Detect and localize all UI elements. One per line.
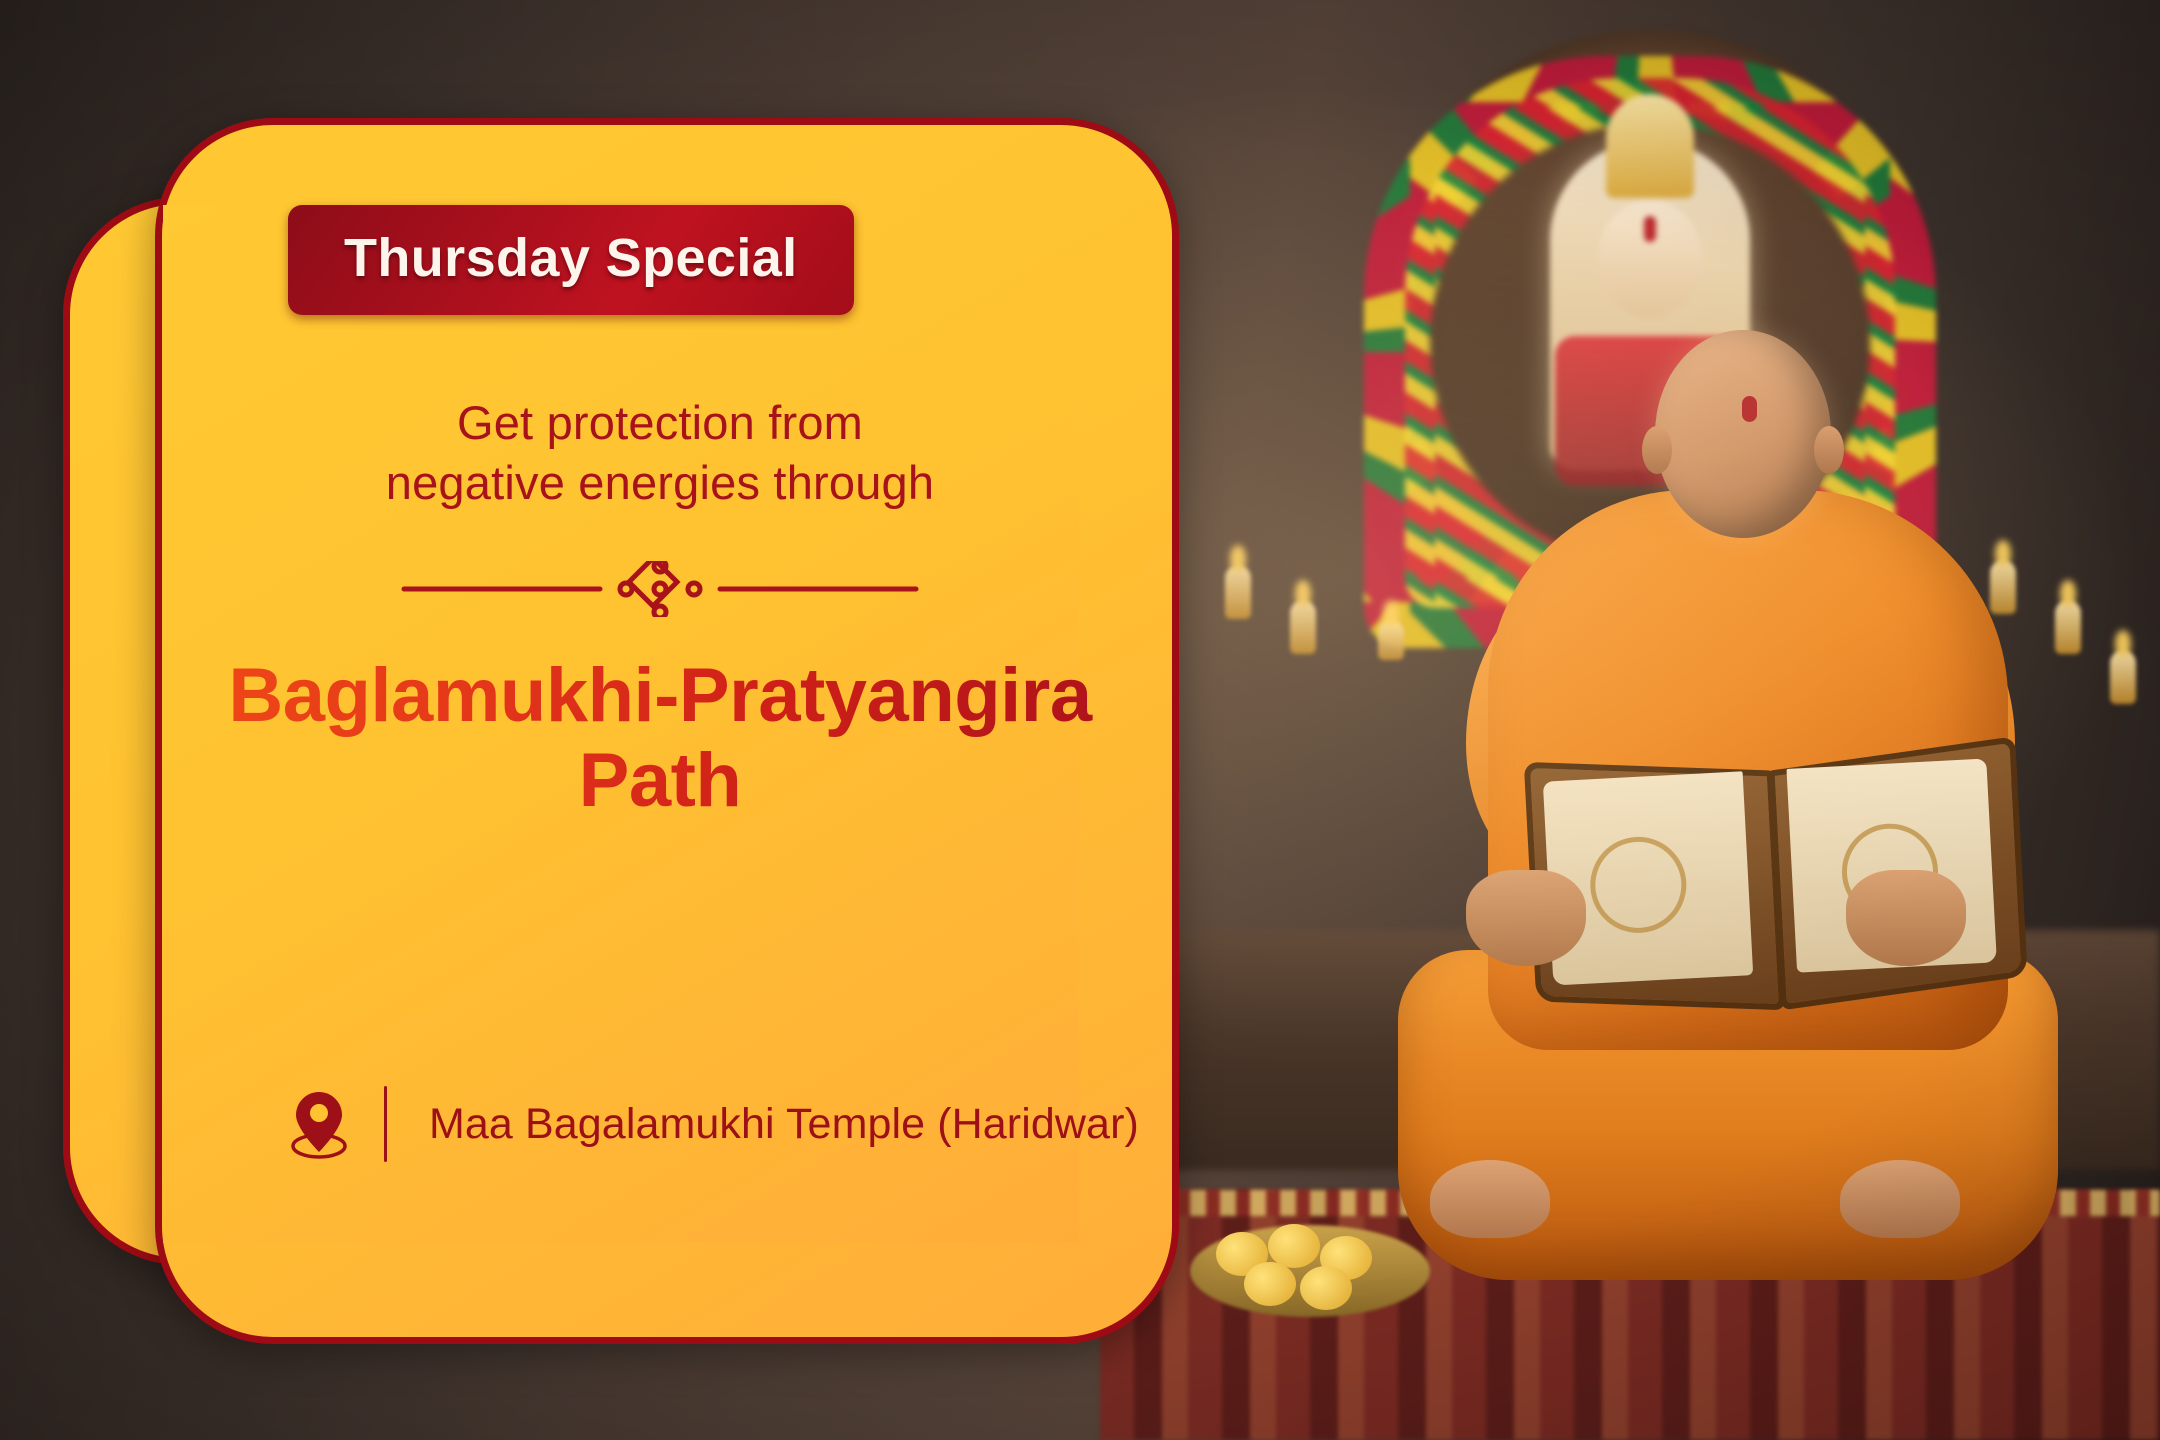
- diamond-ornament-icon: [400, 561, 920, 617]
- title-line-2: Path: [195, 738, 1125, 823]
- card-title: Baglamukhi-Pratyangira Path: [155, 653, 1165, 823]
- ornamental-divider: [400, 561, 920, 617]
- card-content: Thursday Special Get protection from neg…: [155, 118, 1165, 1330]
- promo-banner: Thursday Special Get protection from neg…: [0, 0, 2160, 1440]
- title-line-1: Baglamukhi-Pratyangira: [195, 653, 1125, 738]
- badge-label: Thursday Special: [344, 231, 798, 285]
- card-subtitle: Get protection from negative energies th…: [155, 393, 1165, 513]
- footer-divider: [384, 1086, 387, 1162]
- promo-card: Thursday Special Get protection from neg…: [0, 0, 1240, 1440]
- thursday-special-badge: Thursday Special: [288, 205, 854, 315]
- location-name: Maa Bagalamukhi Temple (Haridwar): [429, 1100, 1139, 1149]
- subtitle-line-1: Get protection from: [215, 393, 1105, 453]
- location-footer: Maa Bagalamukhi Temple (Haridwar): [288, 1086, 1165, 1162]
- subtitle-line-2: negative energies through: [215, 453, 1105, 513]
- location-pin-icon: [288, 1088, 350, 1160]
